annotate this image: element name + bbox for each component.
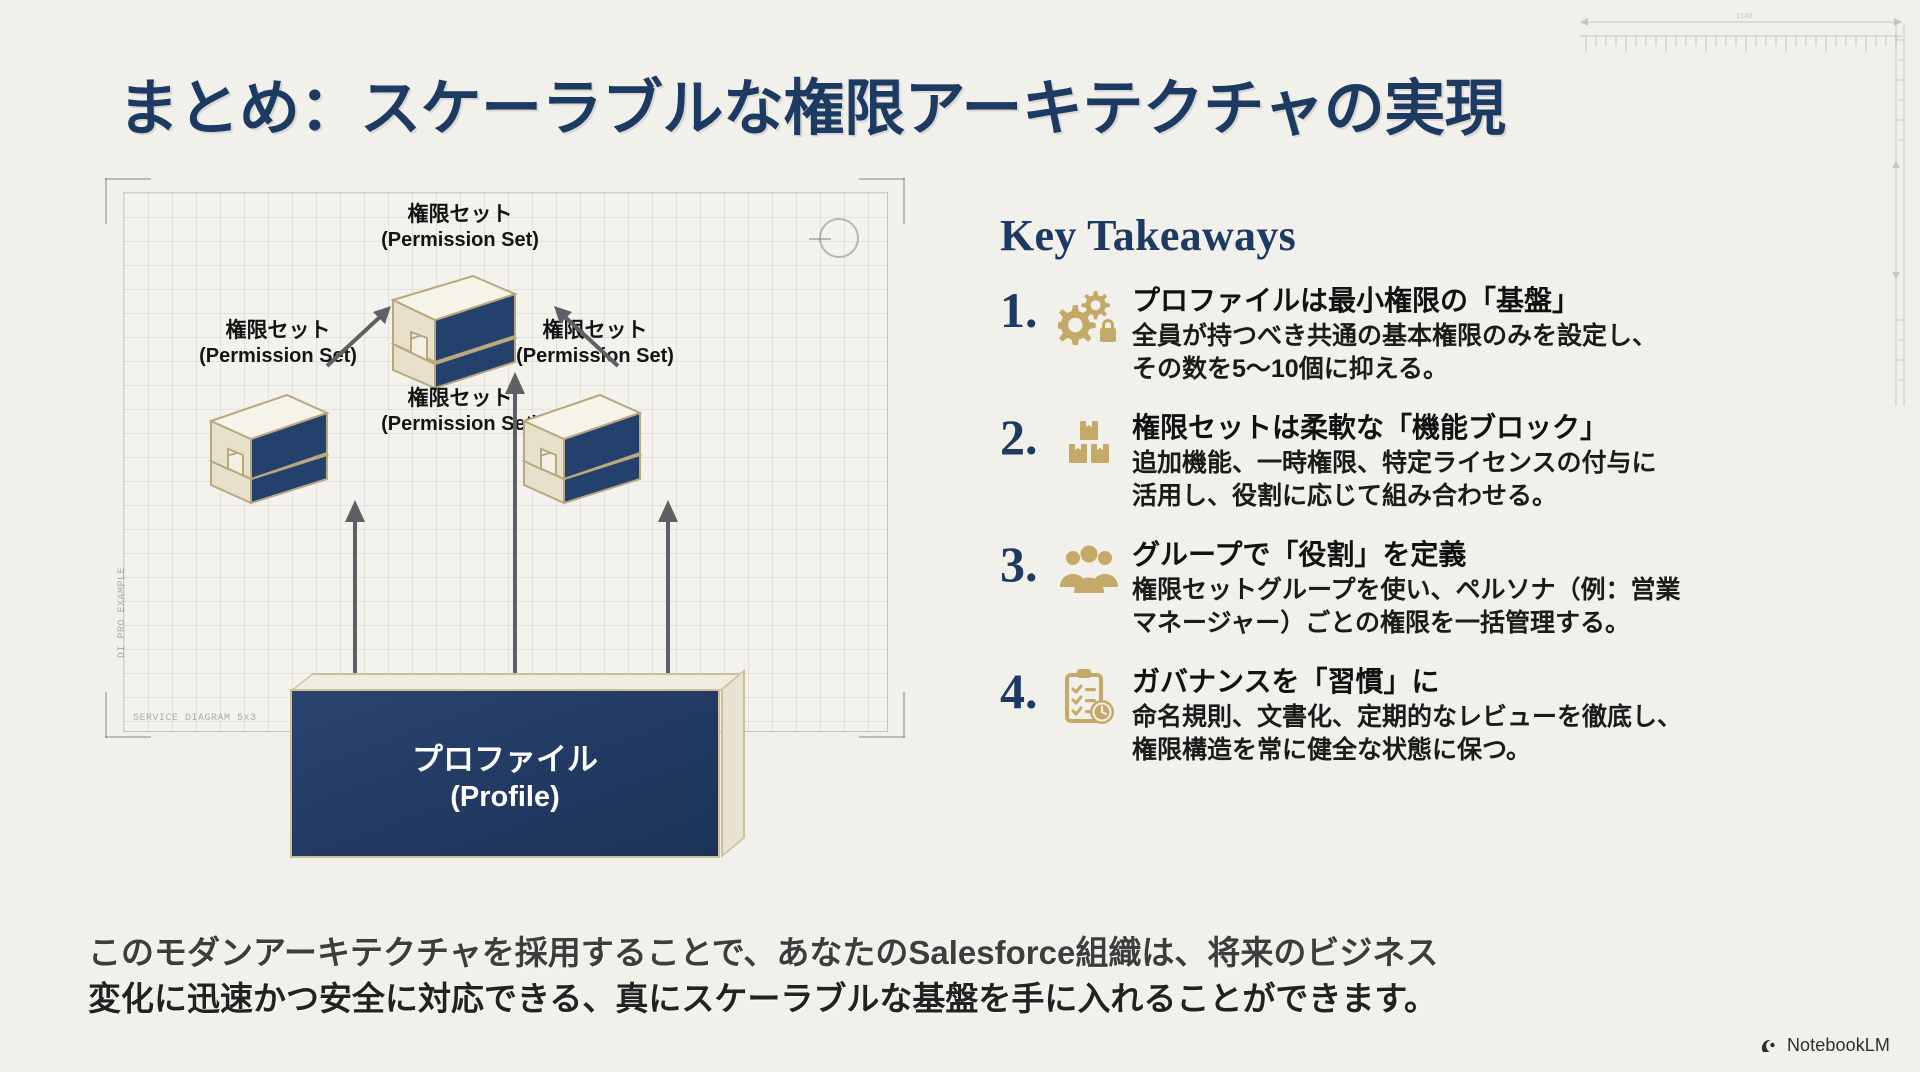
diagram-label-top-en: (Permission Set) xyxy=(335,228,585,252)
top-ruler-decoration: 1148 xyxy=(1576,8,1906,68)
profile-label-jp: プロファイル xyxy=(412,734,598,779)
takeaway-number-2: 2. xyxy=(1000,414,1056,462)
takeaway-body-2-line1: 追加機能、一時権限、特定ライセンスの付与に xyxy=(1132,447,1880,480)
frame-tick-br-v xyxy=(903,692,905,738)
permission-architecture-diagram: DI PRO EXAMPLE SERVICE DIAGRAM 5x3 権限セット… xyxy=(105,178,905,738)
takeaway-body-2-line2: 活用し、役割に応じて組み合わせる。 xyxy=(1132,480,1880,513)
takeaway-text-3: グループで「役割」を定義 権限セットグループを使い、ペルソナ（例：営業 マネージ… xyxy=(1122,537,1880,639)
takeaway-body-4-line2: 権限構造を常に健全な状態に保つ。 xyxy=(1132,734,1880,767)
summary-line-1: このモダンアーキテクチャを採用することで、あなたのSalesforce組織は、将… xyxy=(88,930,1848,976)
clipboard-clock-icon xyxy=(1056,666,1122,728)
arrow-right-to-top xyxy=(540,296,630,376)
frame-tick-bl-h xyxy=(105,736,151,738)
takeaway-body-4-line1: 命名規則、文書化、定期的なレビューを徹底し、 xyxy=(1132,701,1880,734)
profile-label-en: (Profile) xyxy=(450,781,560,814)
takeaway-number-4: 4. xyxy=(1000,668,1056,716)
arrow-left-to-top xyxy=(315,296,405,376)
takeaway-item-2: 2. 権限セットは柔軟な「機能ブロック」 追加機能、一時権限、特定ライセンスの付… xyxy=(1000,410,1880,512)
summary-line-2: 変化に迅速かつ安全に対応できる、真にスケーラブルな基盤を手に入れることができます… xyxy=(88,976,1848,1022)
takeaway-body-3-line1: 権限セットグループを使い、ペルソナ（例：営業 xyxy=(1132,574,1880,607)
takeaway-item-1: 1. プロファイルは最小権限の「基盤」 全員が持つべき共通の基本権限のみを設定し… xyxy=(1000,283,1880,385)
takeaway-text-1: プロファイルは最小権限の「基盤」 全員が持つべき共通の基本権限のみを設定し、 そ… xyxy=(1122,283,1880,385)
takeaway-item-4: 4. xyxy=(1000,664,1880,766)
diagram-label-top-jp: 権限セット xyxy=(335,202,585,228)
takeaway-body-1-line1: 全員が持つべき共通の基本権限のみを設定し、 xyxy=(1132,320,1880,353)
takeaway-number-1: 1. xyxy=(1000,287,1056,335)
people-group-icon xyxy=(1056,539,1122,601)
key-takeaways-panel: Key Takeaways 1. プロファイルは最小権限の「基盤」 全員が持つべ… xyxy=(1000,210,1880,791)
iso-block-right xyxy=(510,383,670,513)
frame-tick-tr-v xyxy=(903,178,905,224)
takeaway-text-4: ガバナンスを「習慣」に 命名規則、文書化、定期的なレビューを徹底し、 権限構造を… xyxy=(1122,664,1880,766)
frame-tick-br-h xyxy=(859,736,905,738)
takeaway-head-2: 権限セットは柔軟な「機能ブロック」 xyxy=(1132,410,1880,445)
gears-lock-icon xyxy=(1056,285,1122,347)
summary-text: このモダンアーキテクチャを採用することで、あなたのSalesforce組織は、将… xyxy=(88,930,1848,1021)
notebooklm-logo-icon xyxy=(1760,1036,1780,1056)
diagram-label-top: 権限セット (Permission Set) xyxy=(335,202,585,252)
takeaway-item-3: 3. グループで「役割」を定義 権限セットグループを使い、ペルソナ（例：営業 マ… xyxy=(1000,537,1880,639)
arrow-profile-to-right-block xyxy=(653,496,683,676)
ruler-value-label: 1148 xyxy=(1736,13,1753,21)
key-takeaways-heading: Key Takeaways xyxy=(1000,210,1880,261)
profile-block-side-face xyxy=(721,669,745,858)
takeaway-head-3: グループで「役割」を定義 xyxy=(1132,537,1880,572)
frame-tick-tl-v xyxy=(105,178,107,224)
diagram-margin-note-bottom: SERVICE DIAGRAM 5x3 xyxy=(133,713,257,724)
profile-block-front-face: プロファイル (Profile) xyxy=(290,689,720,858)
iso-block-left xyxy=(197,383,357,513)
notebooklm-watermark: NotebookLM xyxy=(1760,1035,1890,1056)
slide-title: まとめ：スケーラブルな権限アーキテクチャの実現 xyxy=(118,58,1505,147)
takeaway-body-1-line2: その数を5〜10個に抑える。 xyxy=(1132,353,1880,386)
arrow-profile-to-left-block xyxy=(340,496,370,676)
frame-tick-tl-h xyxy=(105,178,151,180)
stacked-boxes-icon xyxy=(1056,412,1122,474)
takeaway-head-1: プロファイルは最小権限の「基盤」 xyxy=(1132,283,1880,318)
diagram-margin-note-left: DI PRO EXAMPLE xyxy=(117,567,128,658)
takeaway-body-3-line2: マネージャー）ごとの権限を一括管理する。 xyxy=(1132,607,1880,640)
takeaway-text-2: 権限セットは柔軟な「機能ブロック」 追加機能、一時権限、特定ライセンスの付与に … xyxy=(1122,410,1880,512)
profile-base-block: プロファイル (Profile) xyxy=(290,673,745,858)
takeaway-head-4: ガバナンスを「習慣」に xyxy=(1132,664,1880,699)
arrow-profile-to-center-block xyxy=(500,368,530,678)
frame-tick-tr-h xyxy=(859,178,905,180)
diagram-circle-marker xyxy=(819,218,859,258)
frame-tick-bl-v xyxy=(105,692,107,738)
takeaway-number-3: 3. xyxy=(1000,541,1056,589)
notebooklm-label: NotebookLM xyxy=(1787,1035,1890,1056)
